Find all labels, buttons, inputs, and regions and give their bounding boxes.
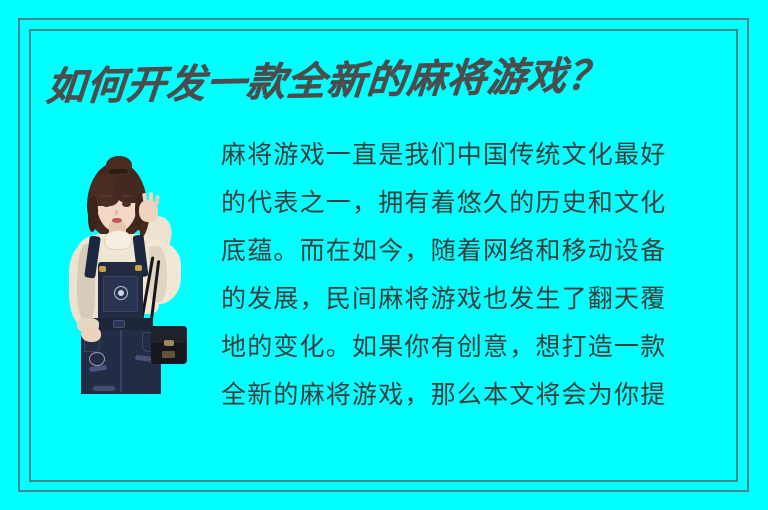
hand-left bbox=[81, 326, 101, 342]
turtleneck-collar bbox=[104, 230, 132, 250]
body-line: 地的变化。如果你有创意，想打造一款 bbox=[221, 323, 731, 371]
body-line: 麻将游戏一直是我们中国传统文化最好 bbox=[221, 131, 731, 179]
belt-buckle bbox=[113, 320, 125, 328]
body-line: 的发展，民间麻将游戏也发生了翻天覆 bbox=[221, 275, 731, 323]
bag-logo bbox=[162, 351, 175, 358]
eye-left bbox=[102, 201, 111, 207]
bib-emblem bbox=[114, 286, 128, 300]
pants-seam bbox=[120, 330, 122, 392]
eye-right bbox=[122, 201, 131, 207]
finger-ring bbox=[150, 205, 155, 208]
finger bbox=[149, 192, 153, 205]
page-title: 如何开发一款全新的麻将游戏？ bbox=[44, 49, 650, 114]
strap-buckle-left bbox=[99, 266, 106, 272]
finger bbox=[142, 193, 148, 206]
body-line: 底蕴。而在如今，随着网络和移动设备 bbox=[221, 227, 731, 275]
strap-buckle-right bbox=[135, 265, 142, 271]
finger bbox=[154, 195, 160, 207]
mouth bbox=[112, 218, 122, 223]
body-line: 全新的麻将游戏，那么本文将会为你提 bbox=[221, 371, 731, 419]
poster-canvas: 如何开发一款全新的麻将游戏？ 麻将游戏一直是我们中国传统文化最好 的代表之一，拥… bbox=[0, 0, 768, 510]
body-line: 的代表之一，拥有着悠久的历史和文化 bbox=[221, 179, 731, 227]
denim-rip bbox=[93, 386, 115, 391]
woman-illustration bbox=[57, 160, 203, 393]
bag-clasp bbox=[164, 340, 174, 346]
body-paragraph: 麻将游戏一直是我们中国传统文化最好 的代表之一，拥有着悠久的历史和文化 底蕴。而… bbox=[221, 131, 731, 419]
nose bbox=[115, 210, 118, 215]
belt-chain bbox=[89, 352, 105, 366]
